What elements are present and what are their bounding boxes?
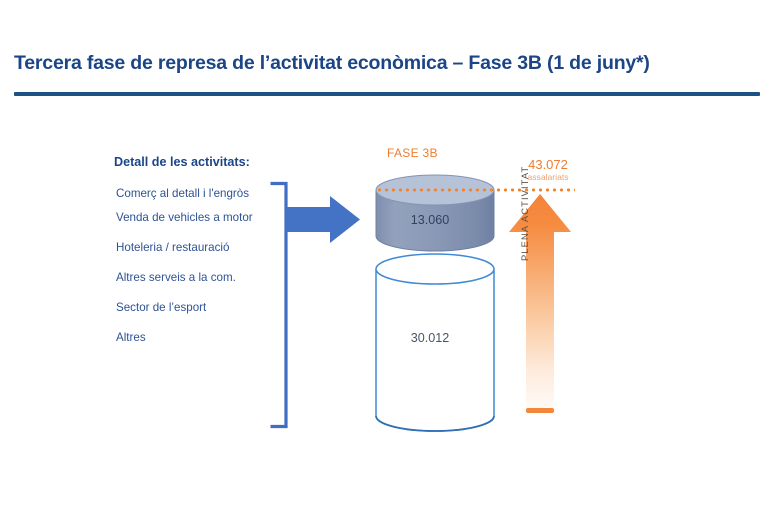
phase-label: FASE 3B bbox=[387, 146, 438, 160]
list-item: Sector de l’esport bbox=[116, 302, 286, 314]
list-item: Venda de vehicles a motor bbox=[116, 212, 286, 224]
activities-heading: Detall de les activitats: bbox=[114, 155, 250, 169]
activities-bracket bbox=[271, 184, 287, 427]
list-item: Altres serveis a la com. bbox=[116, 272, 286, 284]
full-activity-arrow bbox=[505, 192, 575, 420]
blue-right-arrow bbox=[286, 196, 360, 243]
list-item: Altres bbox=[116, 332, 286, 344]
already-active-value-label: 30.012 bbox=[373, 331, 487, 345]
activities-list: Comerç al detall i l'engròs Venda de veh… bbox=[116, 188, 286, 362]
page-title: Tercera fase de represa de l’activitat e… bbox=[14, 52, 754, 75]
fase-3b-value-label: 13.060 bbox=[373, 213, 487, 227]
total-unit-label: assalariats bbox=[512, 172, 584, 182]
cylinder-chart bbox=[360, 138, 510, 438]
list-item: Comerç al detall i l'engròs bbox=[116, 188, 286, 200]
total-value-label: 43.072 bbox=[512, 157, 584, 172]
title-divider bbox=[14, 92, 760, 96]
list-item: Hoteleria / restauració bbox=[116, 242, 286, 254]
